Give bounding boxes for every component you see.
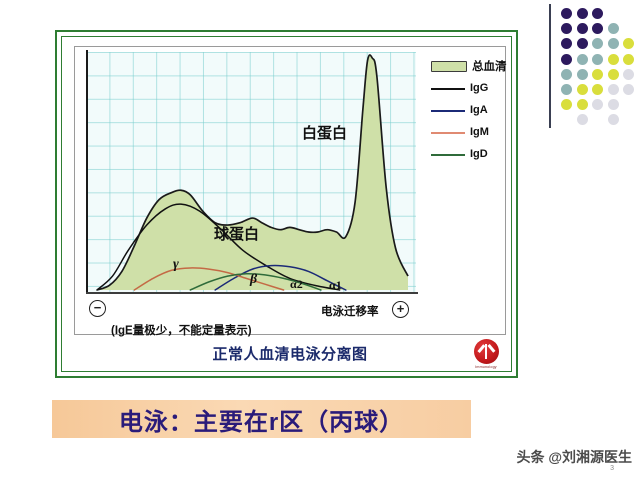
- logo-arm-left: [477, 344, 485, 353]
- legend-swatch-IgA: [431, 105, 465, 116]
- legend-line: [431, 132, 465, 134]
- slide-card-inner-frame: 白蛋白 球蛋白 γ β α2 α1 − + 电泳迁移率 (IgE量极少，不能定量…: [61, 36, 512, 372]
- decoration-dot: [608, 114, 619, 125]
- decoration-dot: [592, 99, 603, 110]
- legend-line: [431, 154, 465, 156]
- y-axis: [86, 50, 88, 294]
- legend-item-IgA: IgA: [431, 99, 503, 121]
- immunology-logo: Immunology: [472, 339, 500, 373]
- watermark-text: 头条 @刘湘源医生: [516, 447, 632, 467]
- peak-label-alpha2: α2: [290, 277, 303, 292]
- decoration-dot: [608, 54, 619, 65]
- legend-label-IgA: IgA: [470, 104, 488, 116]
- peak-label-beta: β: [250, 272, 257, 288]
- title-banner: 电泳：主要在r区（丙球）: [52, 400, 471, 438]
- decoration-dot: [592, 69, 603, 80]
- plot-area: 白蛋白 球蛋白 γ β α2 α1: [86, 52, 416, 292]
- decoration-dot: [592, 38, 603, 49]
- decoration-dot: [623, 69, 634, 80]
- legend-swatch-总血清: [431, 61, 467, 72]
- figure-caption-strip: 正常人血清电泳分离图 Immunology: [74, 339, 506, 375]
- decoration-dot: [577, 114, 588, 125]
- region-label-albumin: 白蛋白: [302, 122, 347, 143]
- legend-line: [431, 110, 465, 112]
- decoration-dot: [592, 8, 603, 19]
- immunology-logo-disc: [474, 339, 499, 364]
- page-number: 3: [610, 465, 614, 472]
- decoration-dot: [561, 84, 572, 95]
- decoration-dot: [561, 38, 572, 49]
- decoration-vertical-rule: [549, 4, 551, 128]
- legend-label-总血清: 总血清: [472, 58, 507, 74]
- peak-label-gamma: γ: [173, 257, 179, 273]
- decoration-dot: [592, 54, 603, 65]
- decoration-dot: [608, 69, 619, 80]
- decoration-dot: [608, 99, 619, 110]
- series-area-total-serum: [97, 55, 408, 290]
- decoration-dot: [623, 84, 634, 95]
- legend-item-总血清: 总血清: [431, 55, 503, 77]
- decoration-dot: [608, 23, 619, 34]
- slide-card: 白蛋白 球蛋白 γ β α2 α1 − + 电泳迁移率 (IgE量极少，不能定量…: [55, 30, 518, 378]
- decoration-dot: [561, 23, 572, 34]
- decoration-dot: [577, 38, 588, 49]
- x-axis: [86, 292, 418, 294]
- x-axis-label: 电泳迁移率: [321, 303, 379, 319]
- chart-panel: 白蛋白 球蛋白 γ β α2 α1 − + 电泳迁移率 (IgE量极少，不能定量…: [74, 46, 506, 335]
- decoration-dot: [623, 54, 634, 65]
- decoration-dot: [608, 84, 619, 95]
- dot-grid-decoration: [549, 2, 640, 130]
- legend-label-IgG: IgG: [470, 82, 488, 94]
- negative-pole-icon: −: [89, 300, 106, 317]
- legend-swatch-IgM: [431, 127, 465, 138]
- legend-swatch-IgD: [431, 149, 465, 160]
- legend-label-IgD: IgD: [470, 148, 488, 160]
- title-banner-text: 电泳：主要在r区（丙球）: [119, 402, 404, 437]
- decoration-dot: [592, 84, 603, 95]
- decoration-dot: [561, 69, 572, 80]
- legend-item-IgM: IgM: [431, 121, 503, 143]
- decoration-dot: [561, 99, 572, 110]
- logo-arm-right: [487, 344, 495, 353]
- positive-pole-icon: +: [392, 301, 409, 318]
- legend-swatch-IgG: [431, 83, 465, 94]
- decoration-dot: [577, 54, 588, 65]
- decoration-dot: [577, 8, 588, 19]
- peak-label-alpha1: α1: [329, 278, 342, 293]
- decoration-dot: [561, 8, 572, 19]
- decoration-dot: [561, 54, 572, 65]
- chart-legend: 总血清IgGIgAIgMIgD: [431, 55, 503, 165]
- decoration-dot: [577, 23, 588, 34]
- legend-line: [431, 88, 465, 90]
- decoration-dot: [592, 23, 603, 34]
- immunology-logo-wordmark: Immunology: [472, 365, 500, 369]
- decoration-dot: [608, 38, 619, 49]
- decoration-dot: [577, 84, 588, 95]
- legend-item-IgG: IgG: [431, 77, 503, 99]
- decoration-dot: [577, 99, 588, 110]
- legend-item-IgD: IgD: [431, 143, 503, 165]
- decoration-dot: [623, 38, 634, 49]
- decoration-dot: [577, 69, 588, 80]
- chart-curves: [86, 52, 416, 292]
- figure-caption: 正常人血清电泳分离图: [74, 343, 506, 364]
- ige-footnote: (IgE量极少，不能定量表示): [111, 322, 252, 338]
- legend-label-IgM: IgM: [470, 126, 489, 138]
- region-label-globulin: 球蛋白: [214, 223, 259, 244]
